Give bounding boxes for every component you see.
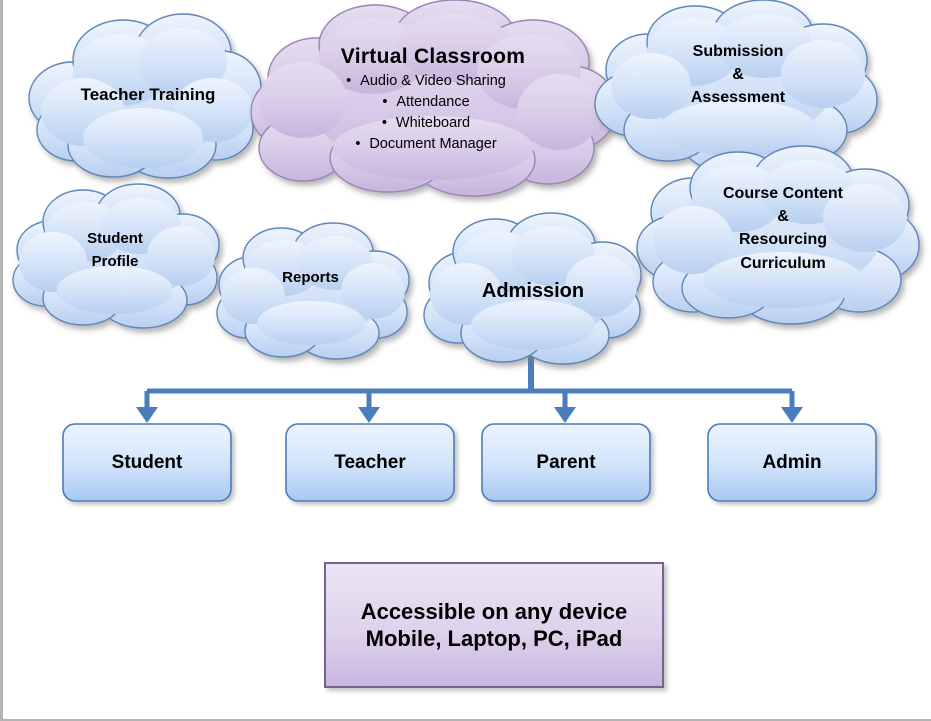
cloud-student-profile[interactable] <box>13 184 219 328</box>
cloud-reports[interactable] <box>217 223 409 359</box>
role-box-admin[interactable] <box>708 424 876 501</box>
connector-arrowheads <box>136 407 803 423</box>
cloud-submission-assessment[interactable] <box>595 0 877 173</box>
connector-tree <box>147 345 792 410</box>
role-box-student[interactable] <box>63 424 231 501</box>
diagram-svg <box>3 0 931 721</box>
device-box[interactable] <box>325 563 663 687</box>
cloud-course-content[interactable] <box>637 146 919 324</box>
diagram-canvas: Teacher Training Virtual Classroom Audio… <box>0 0 931 721</box>
role-box-parent[interactable] <box>482 424 650 501</box>
role-box-teacher[interactable] <box>286 424 454 501</box>
cloud-admission[interactable] <box>424 213 641 364</box>
cloud-virtual-classroom[interactable] <box>251 0 617 196</box>
cloud-teacher-training[interactable] <box>29 14 261 178</box>
